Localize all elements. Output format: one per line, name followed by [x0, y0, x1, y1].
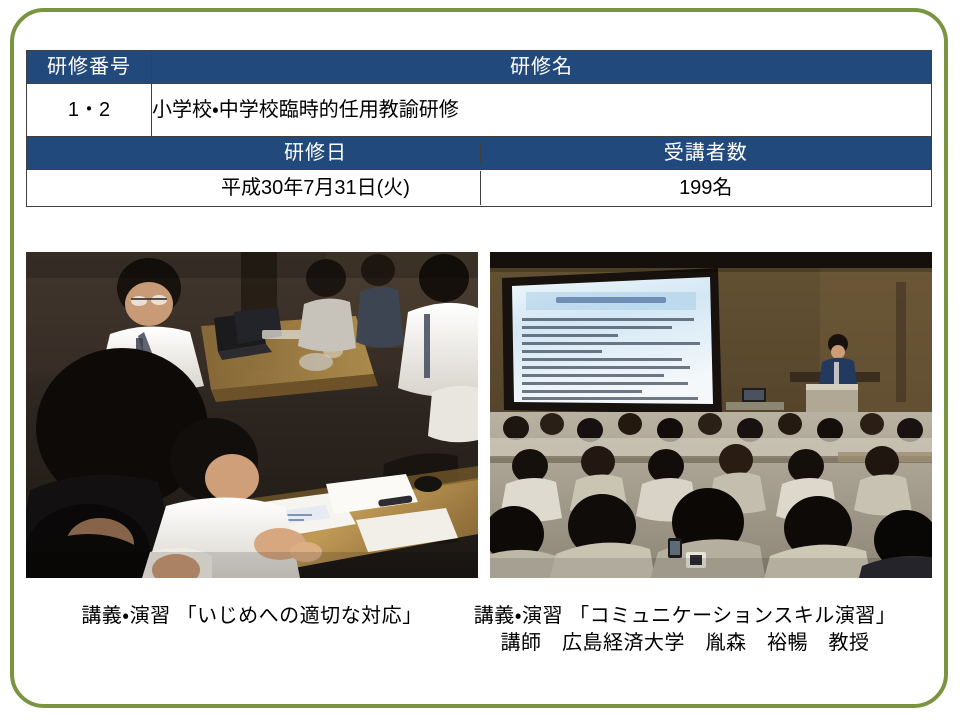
value-training-date-spacer — [27, 170, 152, 207]
table-header-row-2: 研修日 受講者数 — [27, 137, 932, 170]
header-training-date-spacer — [27, 137, 152, 170]
training-info-table: 研修番号 研修名 1・2 小学校・中学校臨時的任用教諭研修 研修日 受講者数 — [26, 50, 932, 207]
photo-group-discussion — [26, 252, 478, 578]
caption-right-line2: 講師 広島経済大学 胤森 裕暢 教授 — [464, 630, 906, 657]
value-training-date: 平成30年7月31日(火) — [152, 177, 480, 199]
header-training-number: 研修番号 — [27, 51, 152, 84]
photo-lecture-hall — [490, 252, 932, 578]
table-row-2: 平成30年7月31日(火) 199名 — [27, 170, 932, 207]
caption-right-line1: 講義・演習 「コミュニケーションスキル演習」 — [464, 603, 906, 630]
header-training-date-wrap: 研修日 受講者数 — [152, 137, 932, 170]
caption-right: 講義・演習 「コミュニケーションスキル演習」 講師 広島経済大学 胤森 裕暢 教… — [464, 603, 906, 657]
value-training-number: 1・2 — [27, 84, 152, 137]
header-training-date: 研修日 — [152, 142, 480, 164]
table-header-row-1: 研修番号 研修名 — [27, 51, 932, 84]
photo-row — [26, 252, 932, 578]
photo-group-discussion-graphic — [26, 252, 478, 578]
caption-left: 講義・演習 「いじめへの適切な対応」 — [26, 603, 478, 630]
caption-left-line1: 講義・演習 「いじめへの適切な対応」 — [26, 603, 478, 630]
slide-root: 研修番号 研修名 1・2 小学校・中学校臨時的任用教諭研修 研修日 受講者数 — [0, 0, 960, 720]
photo-lecture-hall-graphic — [490, 252, 932, 578]
header-training-name: 研修名 — [152, 51, 932, 84]
header-attendee-count: 受講者数 — [481, 142, 932, 164]
value-training-name: 小学校・中学校臨時的任用教諭研修 — [152, 84, 932, 137]
value-training-date-wrap: 平成30年7月31日(火) 199名 — [152, 170, 932, 207]
table-row-1: 1・2 小学校・中学校臨時的任用教諭研修 — [27, 84, 932, 137]
value-attendee-count: 199名 — [481, 177, 932, 199]
